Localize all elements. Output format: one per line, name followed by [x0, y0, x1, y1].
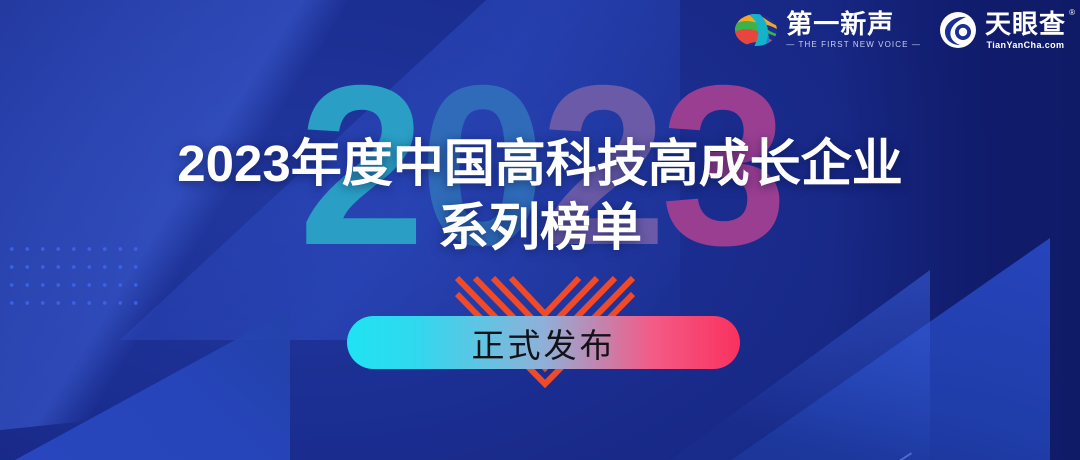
logo-tianyancha-text: 天眼查 ® TianYanCha.com — [985, 11, 1066, 50]
tianyancha-eye-icon — [939, 11, 977, 49]
release-status-label: 正式发布 — [472, 319, 616, 367]
logo-tianyancha-en: TianYanCha.com — [985, 41, 1066, 50]
title-block: 2023年度中国高科技高成长企业 系列榜单 — [0, 132, 1080, 260]
logo-bar: 第一新声 — THE FIRST NEW VOICE — 天眼查 ® TianY — [734, 10, 1066, 50]
registered-trademark-icon: ® — [1069, 9, 1075, 17]
logo-first-new-voice-text: 第一新声 — THE FIRST NEW VOICE — — [786, 11, 921, 49]
logo-first-new-voice-en: — THE FIRST NEW VOICE — — [786, 41, 921, 49]
page-title-line-1: 2023年度中国高科技高成长企业 — [0, 132, 1080, 196]
release-status-pill[interactable]: 正式发布 — [347, 316, 740, 369]
promo-banner: 2023 2023年度中国高科技高成长企业 系列榜单 正式发布 — [0, 0, 1080, 460]
logo-tianyancha-cn: 天眼查 — [985, 9, 1066, 39]
logo-first-new-voice-cn: 第一新声 — [786, 11, 921, 37]
page-title-line-2: 系列榜单 — [0, 196, 1080, 260]
logo-first-new-voice[interactable]: 第一新声 — THE FIRST NEW VOICE — — [734, 10, 921, 50]
logo-tianyancha[interactable]: 天眼查 ® TianYanCha.com — [939, 11, 1066, 50]
first-voice-swirl-icon — [734, 10, 778, 50]
